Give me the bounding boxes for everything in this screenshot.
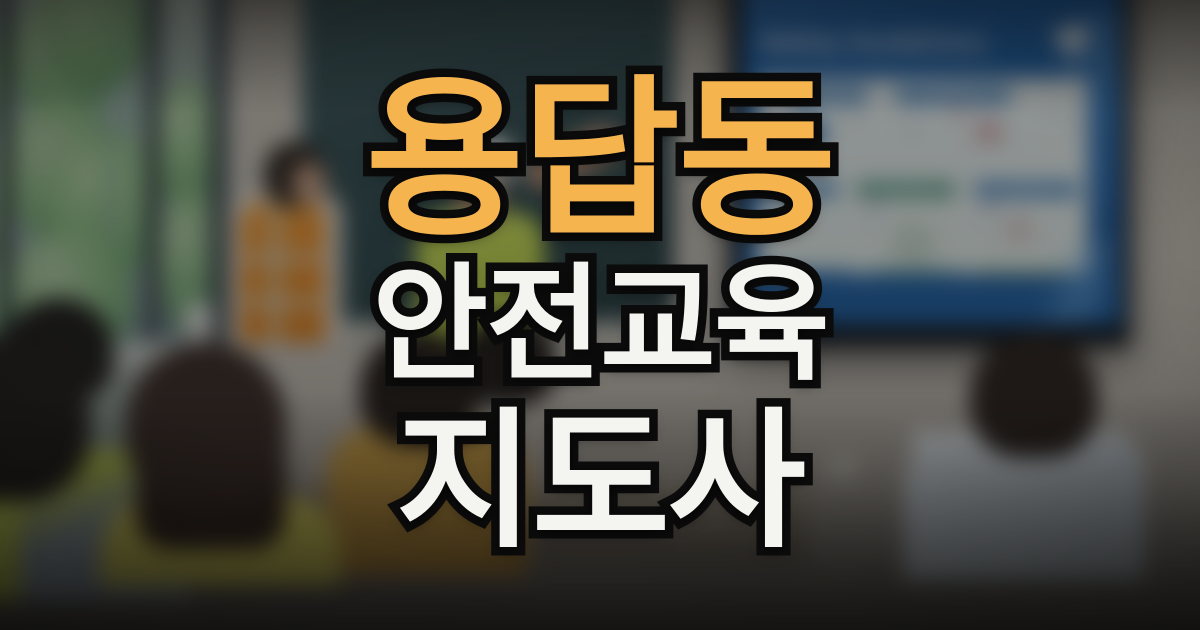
headline-line-3: 지도사 (396, 406, 804, 556)
poster-canvas: Safety Guidelines 안전 수칙 확인 작업장 위험요소 (0, 0, 1200, 630)
headline-line-1: 용답동 (366, 74, 835, 246)
headline-line-2: 안전교육 (372, 262, 828, 388)
headline-block: 용답동 안전교육 지도사 (0, 0, 1200, 630)
